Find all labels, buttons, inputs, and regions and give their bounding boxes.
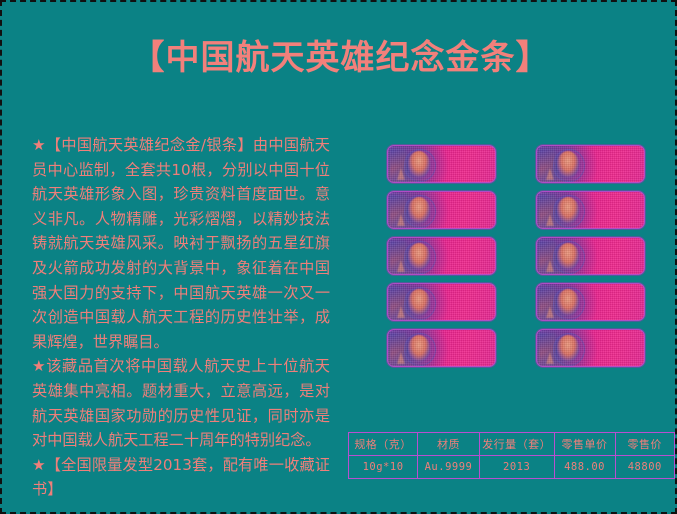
- description-paragraph-2: ★该藏品首次将中国载人航天史上十位航天英雄集中亮相。题材重大，立意高远，是对航天…: [32, 354, 330, 452]
- poster-canvas: 【中国航天英雄纪念金条】 ★【中国航天英雄纪念金/银条】由中国航天员中心监制，全…: [0, 0, 677, 514]
- table-cell-spec: 10g*10: [349, 456, 418, 479]
- table-header-cell-issue: 发行量（套）: [479, 433, 554, 456]
- gallery-row: [387, 145, 645, 183]
- gallery-row: [387, 283, 645, 321]
- gold-bar-thumbnail[interactable]: [536, 283, 645, 321]
- page-title-container: 【中国航天英雄纪念金条】: [2, 38, 677, 78]
- table-cell-material: Au.9999: [418, 456, 480, 479]
- astronaut-portrait-icon: [557, 197, 579, 223]
- gold-bar-thumbnail[interactable]: [387, 145, 496, 183]
- gallery-row: [387, 329, 645, 367]
- gallery-row: [387, 237, 645, 275]
- gold-bar-thumbnail[interactable]: [387, 191, 496, 229]
- table-cell-unitprice: 488.00: [554, 456, 615, 479]
- astronaut-portrait-icon: [557, 335, 579, 361]
- table-row: 10g*10 Au.9999 2013 488.00 48800: [349, 456, 675, 479]
- table-cell-price: 48800: [615, 456, 674, 479]
- gold-bar-thumbnail[interactable]: [536, 191, 645, 229]
- spec-table: 规格（克） 材质 发行量（套） 零售单价 零售价 10g*10 Au.9999 …: [348, 432, 675, 479]
- astronaut-portrait-icon: [408, 289, 430, 315]
- table-header-cell-price: 零售价: [615, 433, 674, 456]
- gold-bar-thumbnail[interactable]: [387, 283, 496, 321]
- gold-bar-thumbnail[interactable]: [536, 237, 645, 275]
- gold-bar-thumbnail[interactable]: [536, 145, 645, 183]
- gold-bar-gallery: [387, 145, 645, 367]
- gold-bar-thumbnail[interactable]: [536, 329, 645, 367]
- table-cell-issue: 2013: [479, 456, 554, 479]
- table-header-cell-material: 材质: [418, 433, 480, 456]
- description-block: ★【中国航天英雄纪念金/银条】由中国航天员中心监制，全套共10根，分别以中国十位…: [32, 133, 330, 502]
- page-title: 【中国航天英雄纪念金条】: [131, 38, 551, 78]
- table-header-cell-spec: 规格（克）: [349, 433, 418, 456]
- astronaut-portrait-icon: [557, 151, 579, 177]
- gallery-row: [387, 191, 645, 229]
- description-paragraph-1: ★【中国航天英雄纪念金/银条】由中国航天员中心监制，全套共10根，分别以中国十位…: [32, 133, 330, 354]
- table-header-row: 规格（克） 材质 发行量（套） 零售单价 零售价: [349, 433, 675, 456]
- astronaut-portrait-icon: [408, 243, 430, 269]
- astronaut-portrait-icon: [557, 289, 579, 315]
- gold-bar-thumbnail[interactable]: [387, 329, 496, 367]
- table-header-cell-unitprice: 零售单价: [554, 433, 615, 456]
- gold-bar-thumbnail[interactable]: [387, 237, 496, 275]
- description-paragraph-3: ★【全国限量发型2013套，配有唯一收藏证书】: [32, 453, 330, 502]
- astronaut-portrait-icon: [408, 335, 430, 361]
- astronaut-portrait-icon: [557, 243, 579, 269]
- astronaut-portrait-icon: [408, 151, 430, 177]
- astronaut-portrait-icon: [408, 197, 430, 223]
